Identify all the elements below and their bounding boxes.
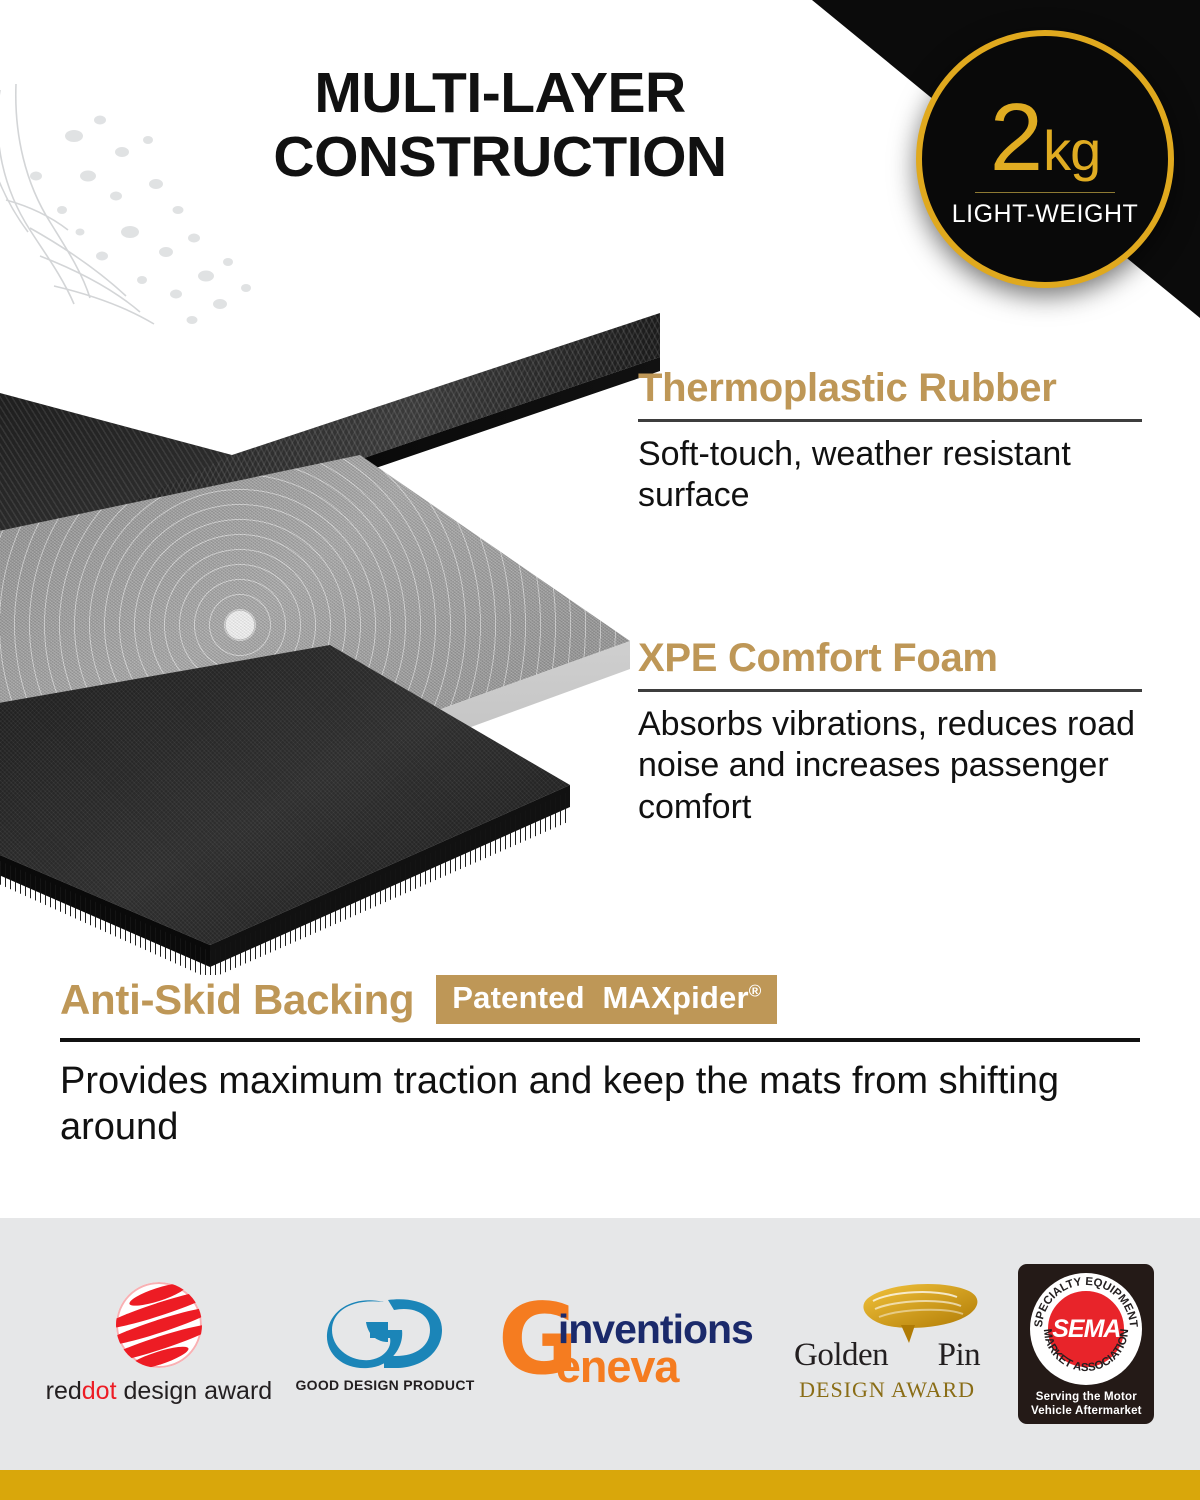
sema-logo: SPECIALTY EQUIPMENT MARKET ASSOCIATION S… — [1018, 1264, 1154, 1424]
svg-text:SPECIALTY EQUIPMENT: SPECIALTY EQUIPMENT — [1033, 1276, 1139, 1328]
sema-circle-icon: SPECIALTY EQUIPMENT MARKET ASSOCIATION S… — [1030, 1273, 1142, 1385]
golden-word: Golden — [794, 1337, 888, 1373]
page-title-line1: MULTI-LAYER — [180, 62, 820, 126]
sema-tagline: Serving the Motor Vehicle Aftermarket — [1031, 1390, 1142, 1419]
page-title: MULTI-LAYER CONSTRUCTION — [180, 62, 820, 190]
badge-divider — [975, 192, 1115, 193]
awards-footer: reddot design award GOOD DESIGN PRODUCT … — [0, 1218, 1200, 1470]
award-sema: SPECIALTY EQUIPMENT MARKET ASSOCIATION S… — [1018, 1264, 1154, 1424]
svg-text:MARKET ASSOCIATION: MARKET ASSOCIATION — [1041, 1328, 1131, 1374]
feature-body: Absorbs vibrations, reduces road noise a… — [638, 704, 1142, 828]
badge-weight-number: 2 — [990, 90, 1041, 186]
page-title-line2: CONSTRUCTION — [180, 126, 820, 190]
anti-skid-heading-row: Anti-Skid Backing Patented MAXpider® — [60, 975, 1140, 1024]
maxpider-label: MAXpider — [602, 980, 748, 1015]
reddot-label: reddot design award — [46, 1377, 273, 1406]
award-good-design-product: GOOD DESIGN PRODUCT — [295, 1296, 474, 1393]
golden-pin-wordmark: Golden Pin — [779, 1337, 995, 1374]
golden-pin-logo: Golden Pin DESIGN AWARD — [779, 1285, 995, 1403]
sema-tagline-line2: Vehicle Aftermarket — [1031, 1404, 1142, 1418]
product-layers-illustration — [0, 250, 670, 970]
reddot-label-dot: dot — [82, 1377, 117, 1405]
good-design-gd-icon — [326, 1296, 444, 1370]
anti-skid-title: Anti-Skid Backing — [60, 976, 414, 1024]
reddot-label-red: red — [46, 1377, 82, 1405]
anti-skid-body: Provides maximum traction and keep the m… — [60, 1058, 1140, 1151]
feature-anti-skid-backing: Anti-Skid Backing Patented MAXpider® Pro… — [60, 975, 1140, 1151]
feature-divider — [638, 419, 1142, 422]
pin-word: Pin — [938, 1337, 981, 1373]
feature-body: Soft-touch, weather resistant surface — [638, 434, 1142, 517]
golden-pin-swoosh-icon — [851, 1281, 983, 1343]
sema-arc-top: SPECIALTY EQUIPMENT — [1033, 1276, 1139, 1328]
sema-tagline-line1: Serving the Motor — [1031, 1390, 1142, 1404]
feature-heading: XPE Comfort Foam — [638, 636, 1142, 680]
anti-skid-backing-layer — [0, 645, 630, 975]
badge-weight-unit: kg — [1043, 123, 1100, 179]
feature-divider — [638, 689, 1142, 692]
awards-row: reddot design award GOOD DESIGN PRODUCT … — [0, 1218, 1200, 1470]
sema-arc-bottom: MARKET ASSOCIATION — [1041, 1328, 1131, 1374]
registered-mark-icon: ® — [749, 982, 762, 1001]
feature-heading: Thermoplastic Rubber — [638, 366, 1142, 410]
patented-maxpider-badge: Patented MAXpider® — [436, 975, 777, 1024]
good-design-caption: GOOD DESIGN PRODUCT — [295, 1377, 474, 1393]
patented-label: Patented — [452, 980, 585, 1015]
feature-xpe-comfort-foam: XPE Comfort Foam Absorbs vibrations, red… — [638, 636, 1142, 828]
award-inventions-geneva: G inventions eneva — [498, 1298, 756, 1390]
reddot-label-rest: design award — [117, 1377, 273, 1405]
golden-pin-subtitle: DESIGN AWARD — [779, 1377, 995, 1403]
award-reddot: reddot design award — [46, 1282, 273, 1406]
anti-skid-divider — [60, 1038, 1140, 1042]
award-golden-pin: Golden Pin DESIGN AWARD — [779, 1285, 995, 1403]
feature-thermoplastic-rubber: Thermoplastic Rubber Soft-touch, weather… — [638, 366, 1142, 517]
geneva-word: eneva — [556, 1341, 679, 1393]
badge-caption: LIGHT-WEIGHT — [952, 200, 1139, 229]
bottom-gold-bar — [0, 1470, 1200, 1500]
reddot-globe-icon — [116, 1282, 202, 1368]
badge-weight: 2 kg — [990, 90, 1101, 186]
light-weight-badge: 2 kg LIGHT-WEIGHT — [916, 30, 1174, 288]
inventions-geneva-logo: G inventions eneva — [498, 1298, 756, 1390]
